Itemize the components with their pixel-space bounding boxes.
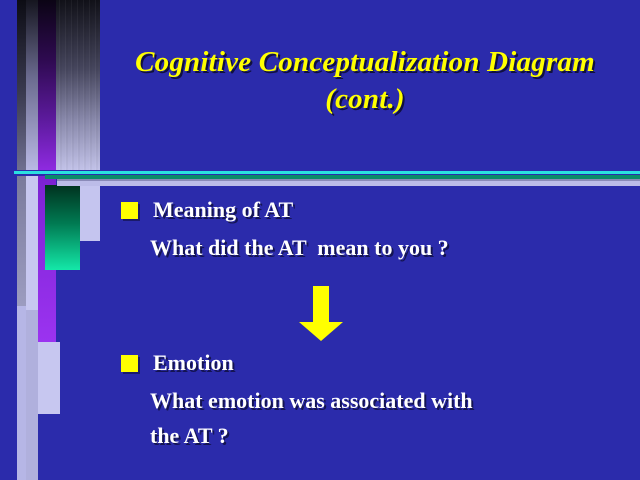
decor-bar-lavender-tall [38, 342, 60, 414]
decor-bar-wide-streaks [56, 0, 100, 170]
decor-bar-bottom-fill [38, 414, 60, 480]
bullet-item-emotion: Emotion [121, 350, 234, 376]
decor-bar-lavender-mid [26, 176, 38, 310]
decor-bar-purple-top [38, 0, 56, 170]
bullet-item-meaning-of-at: Meaning of AT [121, 197, 293, 223]
decor-bar-slate-mid [17, 176, 26, 306]
bullet-heading-meaning-of-at: Meaning of AT [153, 197, 293, 223]
down-arrow-icon [298, 286, 344, 342]
decor-bar-lavender-tall-2 [26, 310, 38, 480]
divider-lavender-shadow [57, 179, 640, 181]
decor-bar-slate-top [17, 0, 26, 170]
bullet-heading-emotion: Emotion [153, 350, 234, 376]
decor-bar-slate-low [17, 306, 26, 480]
bullet-question-emotion-line-1: What emotion was associated with [150, 388, 473, 414]
presentation-slide: Cognitive Conceptualization Diagram (con… [0, 0, 640, 480]
decor-bar-wide-top [56, 0, 100, 170]
slide-title: Cognitive Conceptualization Diagram (con… [100, 44, 630, 118]
divider-cyan [14, 171, 640, 174]
decor-bar-purple-mid [38, 176, 56, 342]
divider-teal [45, 175, 640, 179]
slide-title-line-1: Cognitive Conceptualization Diagram [100, 44, 630, 81]
bullet-question-meaning-of-at: What did the AT mean to you ? [150, 235, 449, 261]
slide-title-line-2: (cont.) [100, 81, 630, 118]
decor-bar-teal [45, 185, 80, 270]
bullet-question-emotion-line-2: the AT ? [150, 423, 229, 449]
decor-bar-lavender-top [26, 0, 38, 170]
yellow-square-bullet-icon [121, 202, 138, 219]
yellow-square-bullet-icon [121, 355, 138, 372]
